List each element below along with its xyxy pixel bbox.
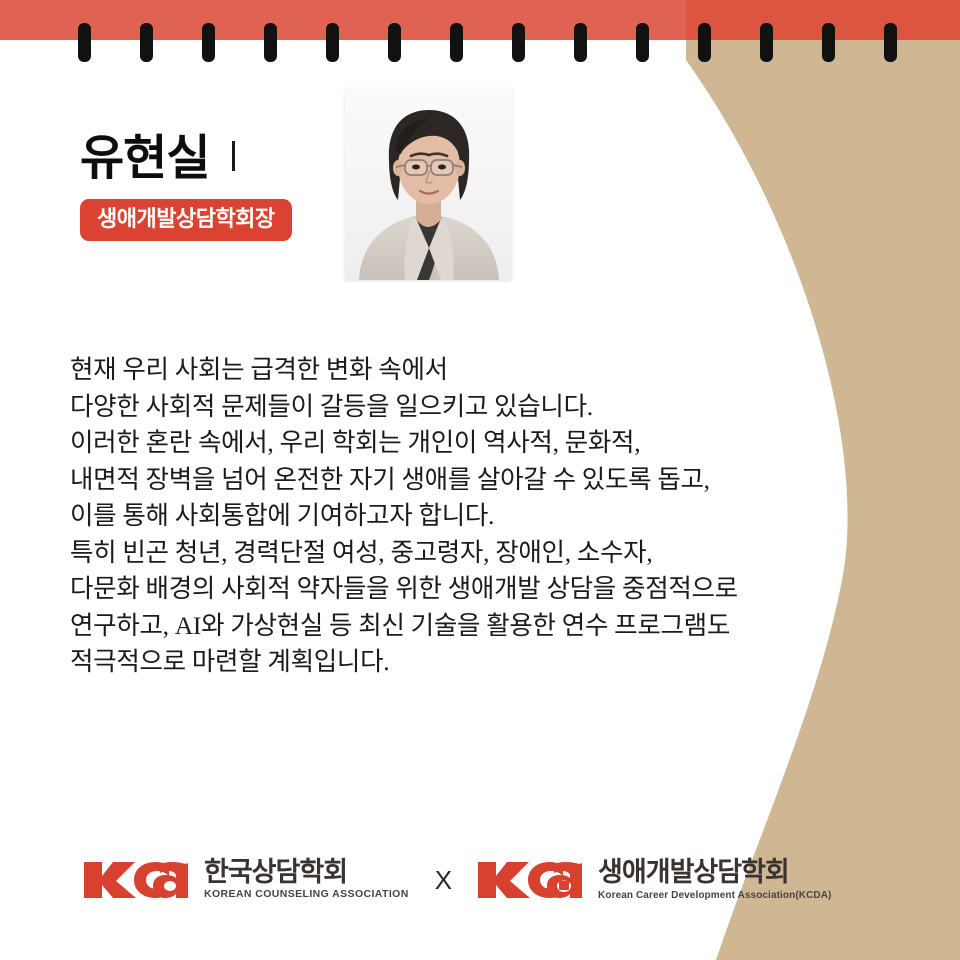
greeting-line: 적극적으로 마련할 계획입니다. — [70, 644, 900, 681]
greeting-line: 특히 빈곤 청년, 경력단절 여성, 중고령자, 장애인, 소수자, — [70, 535, 900, 572]
greeting-line: 현재 우리 사회는 급격한 변화 속에서 — [70, 352, 900, 389]
binder-mark — [140, 23, 153, 62]
greeting-message: 현재 우리 사회는 급격한 변화 속에서다양한 사회적 문제들이 갈등을 일으키… — [70, 352, 900, 681]
logo-korean-counseling-association: 한국상담학회 KOREAN COUNSELING ASSOCIATION — [80, 858, 409, 902]
portrait-illustration — [345, 88, 512, 280]
status-badge: 생애개발상담학회장 — [80, 199, 292, 241]
binder-mark — [698, 23, 711, 62]
greeting-line: 다양한 사회적 문제들이 갈등을 일으키고 있습니다. — [70, 389, 900, 426]
kca-logo-icon — [80, 858, 192, 902]
association-greeting-card: 유현실 생애개발상담학회장 — [0, 0, 960, 960]
binder-mark — [388, 23, 401, 62]
logo-separator: X — [435, 865, 452, 896]
header-section: 유현실 생애개발상담학회장 — [0, 80, 960, 295]
logo-korean-label: 생애개발상담학회 — [598, 858, 831, 886]
greeting-line: 내면적 장벽을 넘어 온전한 자기 생애를 살아갈 수 있도록 돕고, — [70, 462, 900, 499]
greeting-line: 이를 통해 사회통합에 기여하고자 합니다. — [70, 498, 900, 535]
binder-marks-group — [0, 0, 960, 70]
binder-mark — [884, 23, 897, 62]
logo-english-label: Korean Career Development Association(KC… — [598, 889, 831, 902]
page-title: 유현실 — [80, 135, 209, 183]
binder-mark — [450, 23, 463, 62]
greeting-line: 이러한 혼란 속에서, 우리 학회는 개인이 역사적, 문화적, — [70, 425, 900, 462]
binder-mark — [78, 23, 91, 62]
binder-mark — [326, 23, 339, 62]
greeting-line: 다문화 배경의 사회적 약자들을 위한 생애개발 상담을 중점적으로 — [70, 571, 900, 608]
binder-mark — [760, 23, 773, 62]
binder-mark — [636, 23, 649, 62]
kcda-logo-icon — [474, 858, 586, 902]
binder-mark — [202, 23, 215, 62]
greeting-line: 연구하고, AI와 가상현실 등 최신 기술을 활용한 연수 프로그램도 — [70, 608, 900, 645]
binder-mark — [264, 23, 277, 62]
name-divider-bar — [232, 141, 235, 171]
name-block: 유현실 생애개발상담학회장 — [80, 135, 340, 241]
logo-korean-label: 한국상담학회 — [204, 858, 409, 886]
binder-mark — [822, 23, 835, 62]
logo-korean-career-development-association: 생애개발상담학회 Korean Career Development Assoc… — [474, 858, 831, 902]
logo-english-label: KOREAN COUNSELING ASSOCIATION — [204, 888, 409, 902]
binder-mark — [512, 23, 525, 62]
binder-mark — [574, 23, 587, 62]
footer-logos: 한국상담학회 KOREAN COUNSELING ASSOCIATION X 생… — [0, 840, 960, 930]
avatar — [345, 88, 512, 280]
